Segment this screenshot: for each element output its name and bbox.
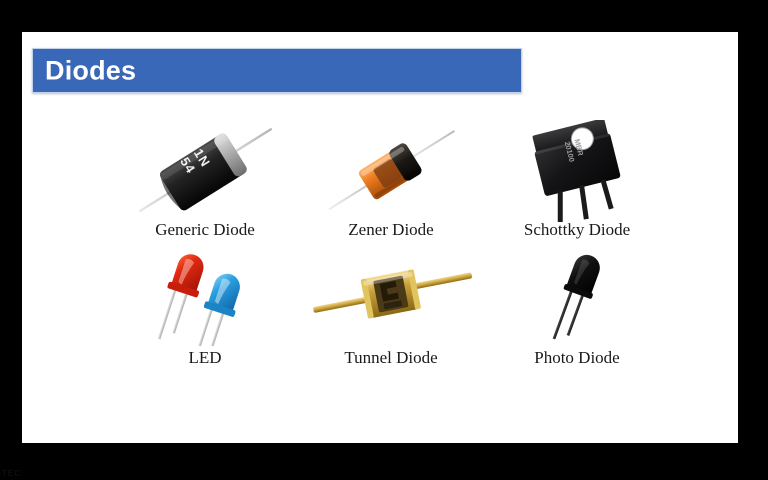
gallery-item-label: Photo Diode [484, 348, 670, 368]
gallery-item-label: Tunnel Diode [298, 348, 484, 368]
slide-title-bar: Diodes [32, 48, 522, 93]
gallery-item-label: LED [112, 348, 298, 368]
page-title: Diodes [45, 57, 136, 84]
gallery-item-label: Generic Diode [112, 220, 298, 240]
photo-diode-image [484, 244, 670, 346]
tunnel-diode-image [298, 244, 484, 346]
gallery-item-label: Zener Diode [298, 220, 484, 240]
corner-watermark: TEC [2, 470, 21, 478]
generic-diode-image: 1N 54 [112, 120, 298, 222]
led-image [112, 244, 298, 346]
gallery-item-label: Schottky Diode [484, 220, 670, 240]
schottky-diode-image: MBR 20100 [484, 120, 670, 222]
gallery-item-photo-diode[interactable]: Photo Diode [484, 244, 670, 379]
diode-gallery: 1N 54 Generic Diode [112, 120, 672, 390]
gallery-item-tunnel-diode[interactable]: Tunnel Diode [298, 244, 484, 379]
slide-canvas: Diodes [22, 32, 738, 443]
slide-viewer: Diodes [0, 0, 768, 480]
gallery-item-generic-diode[interactable]: 1N 54 Generic Diode [112, 120, 298, 255]
gallery-item-zener-diode[interactable]: Zener Diode [298, 120, 484, 255]
gallery-item-schottky-diode[interactable]: MBR 20100 Schottky Diode [484, 120, 670, 255]
gallery-item-led[interactable]: LED [112, 244, 298, 379]
zener-diode-image [298, 120, 484, 222]
